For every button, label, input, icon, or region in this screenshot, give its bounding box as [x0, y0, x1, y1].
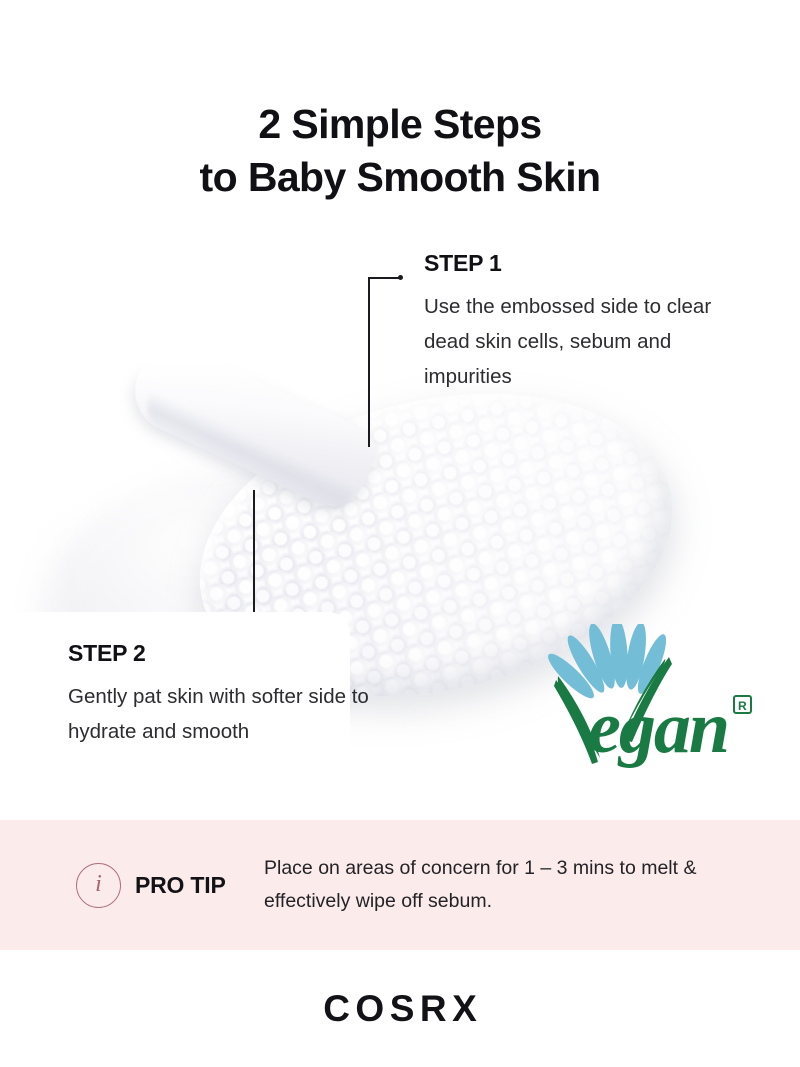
vegan-registered-letter: R	[738, 699, 747, 713]
vegan-logo-icon: egan R	[536, 624, 764, 784]
step-2-title: STEP 2	[68, 640, 378, 667]
page-title-line-2: to Baby Smooth Skin	[0, 151, 800, 204]
info-icon-glyph: i	[95, 872, 102, 896]
step-1-leader-line-vertical	[368, 277, 370, 447]
page-title: 2 Simple Steps to Baby Smooth Skin	[0, 98, 800, 204]
footer: COSRX	[0, 950, 800, 1067]
brand-logo-cosrx: COSRX	[318, 988, 483, 1030]
step-1-leader-line-horizontal	[368, 277, 401, 279]
vegan-badge: egan R	[536, 624, 764, 784]
step-1-body: Use the embossed side to clear dead skin…	[424, 289, 754, 394]
pro-tip-band: i PRO TIP Place on areas of concern for …	[0, 820, 800, 950]
step-1-block: STEP 1 Use the embossed side to clear de…	[424, 250, 754, 394]
pro-tip-content: i PRO TIP Place on areas of concern for …	[76, 820, 766, 950]
step-1-title: STEP 1	[424, 250, 754, 277]
pro-tip-label-group: i PRO TIP	[76, 863, 272, 908]
step-2-block: STEP 2 Gently pat skin with softer side …	[68, 640, 378, 749]
page-title-line-1: 2 Simple Steps	[258, 101, 541, 147]
info-icon: i	[76, 863, 121, 908]
step-2-body: Gently pat skin with softer side to hydr…	[68, 679, 378, 749]
vegan-wordmark-text: egan	[588, 687, 728, 769]
pro-tip-title: PRO TIP	[135, 872, 226, 899]
vegan-wordmark: egan	[588, 687, 728, 769]
step-1-leader-dot	[398, 275, 403, 280]
pro-tip-text: Place on areas of concern for 1 – 3 mins…	[264, 852, 766, 918]
infographic-page: 2 Simple Steps to Baby Smooth Skin STEP …	[0, 0, 800, 1067]
